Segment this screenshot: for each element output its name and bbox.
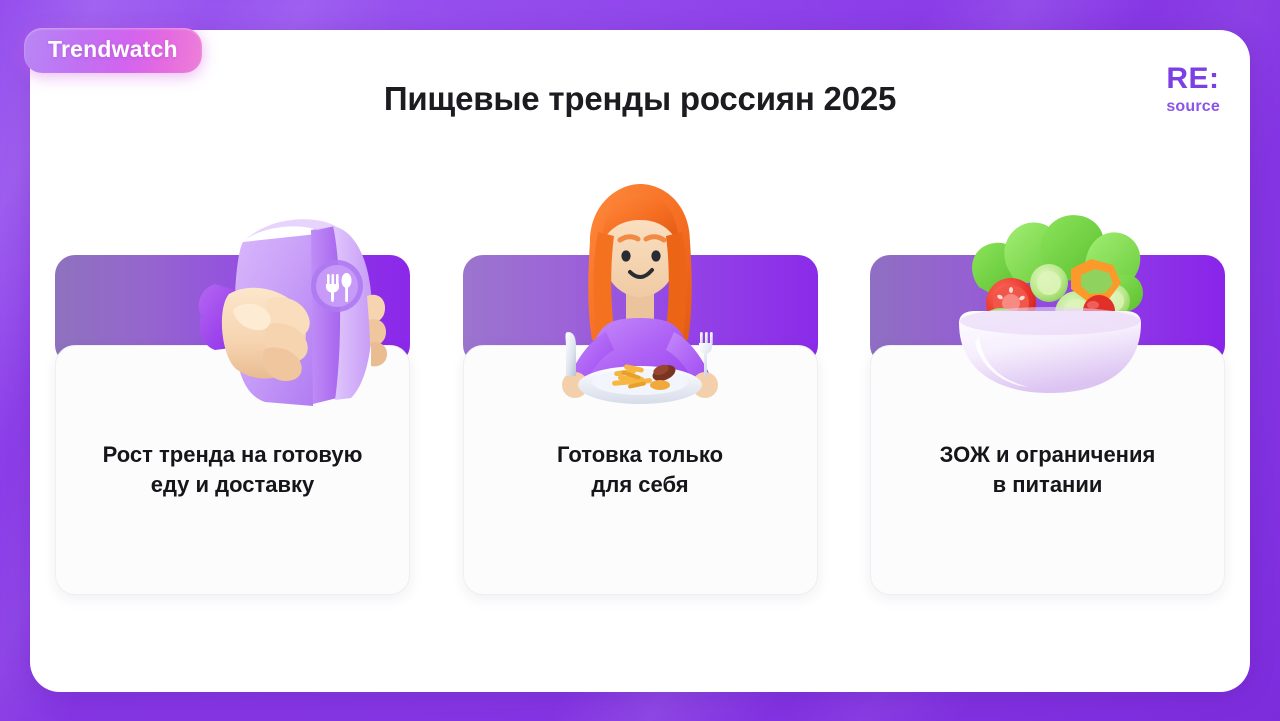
trend-card-2[interactable]: Готовка только для себя: [463, 255, 818, 595]
card-caption-1: Рост тренда на готовую еду и доставку: [89, 440, 377, 499]
trendwatch-badge-label: Trendwatch: [48, 38, 178, 61]
logo-word-text: source: [1166, 99, 1220, 115]
trend-cards-row: Рост тренда на готовую еду и доставку: [55, 255, 1225, 595]
panel-header: Пищевые тренды россиян 2025 RE: source: [30, 30, 1250, 154]
logo-mark-text: RE:: [1166, 64, 1220, 94]
card-caption-2: Готовка только для себя: [543, 440, 737, 499]
trendwatch-badge[interactable]: Trendwatch: [24, 28, 202, 73]
trend-card-3[interactable]: ЗОЖ и ограничения в питании: [870, 255, 1225, 595]
card-caption-3: ЗОЖ и ограничения в питании: [926, 440, 1170, 499]
trend-card-1[interactable]: Рост тренда на готовую еду и доставку: [55, 255, 410, 595]
content-panel: Пищевые тренды россиян 2025 RE: source: [30, 30, 1250, 692]
card-body-2: Готовка только для себя: [463, 345, 818, 595]
page-title: Пищевые тренды россиян 2025: [30, 80, 1250, 118]
card-body-3: ЗОЖ и ограничения в питании: [870, 345, 1225, 595]
card-body-1: Рост тренда на готовую еду и доставку: [55, 345, 410, 595]
resource-logo: RE: source: [1166, 64, 1220, 115]
